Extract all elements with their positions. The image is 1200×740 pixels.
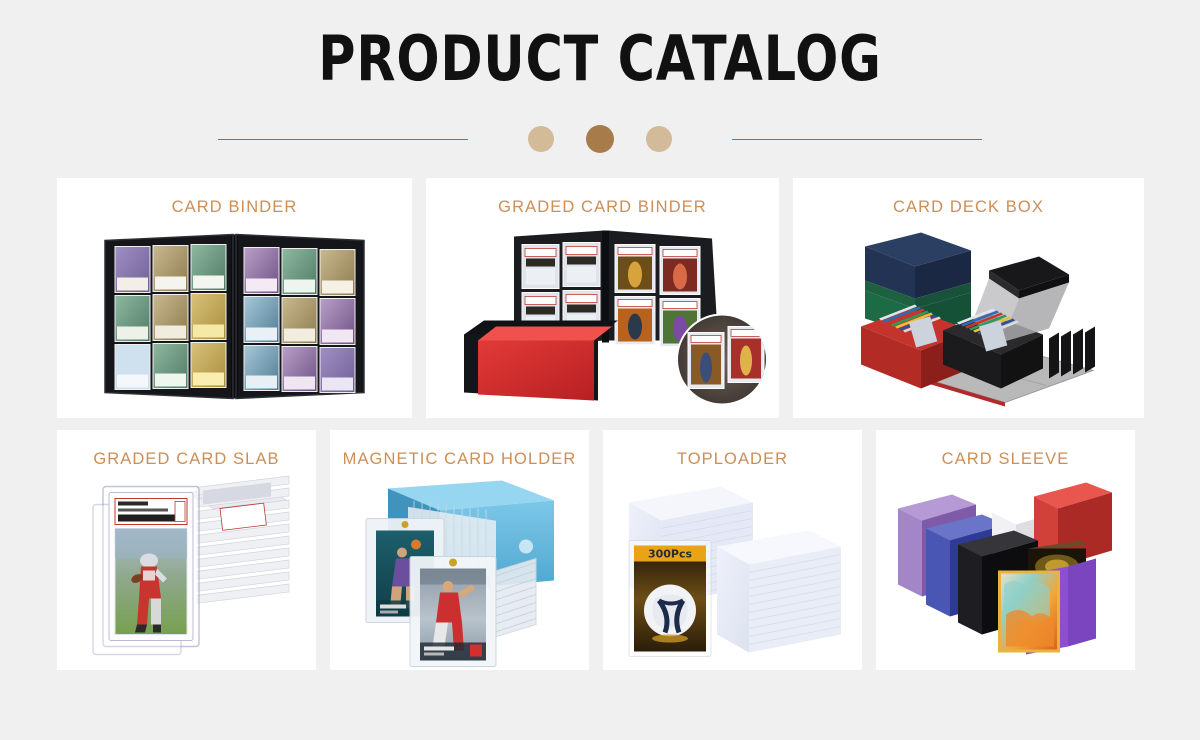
- decorative-divider: [0, 124, 1200, 154]
- svg-text:300Pcs: 300Pcs: [648, 548, 693, 561]
- page-header: PRODUCT CATALOG: [0, 0, 1200, 154]
- divider-line-right: [732, 139, 982, 140]
- product-card-magnetic-card-holder[interactable]: MAGNETIC CARD HOLDER: [330, 430, 589, 670]
- product-title: GRADED CARD BINDER: [498, 198, 707, 217]
- catalog-row: CARD BINDER: [57, 178, 1143, 418]
- product-image-graded-card-slab: [57, 469, 316, 670]
- product-title: CARD DECK BOX: [893, 198, 1044, 217]
- divider-dot-3: [646, 126, 672, 152]
- product-title: TOPLOADER: [677, 450, 788, 469]
- product-catalog-grid: CARD BINDER: [0, 178, 1200, 670]
- product-card-graded-card-binder[interactable]: GRADED CARD BINDER: [426, 178, 779, 418]
- product-image-magnetic-card-holder: [330, 469, 589, 670]
- product-image-card-deck-box: [793, 217, 1144, 418]
- divider-dot-1: [528, 126, 554, 152]
- product-card-card-binder[interactable]: CARD BINDER: [57, 178, 412, 418]
- product-title: CARD BINDER: [172, 198, 298, 217]
- divider-line-left: [218, 139, 468, 140]
- product-card-graded-card-slab[interactable]: GRADED CARD SLAB: [57, 430, 316, 670]
- catalog-row: GRADED CARD SLAB: [57, 430, 1143, 670]
- divider-dot-2: [586, 125, 614, 153]
- product-card-card-deck-box[interactable]: CARD DECK BOX: [793, 178, 1144, 418]
- product-image-card-sleeve: [876, 469, 1135, 670]
- product-title: CARD SLEEVE: [942, 450, 1070, 469]
- page-title: PRODUCT CATALOG: [108, 0, 1092, 90]
- product-image-toploader: 300Pcs: [603, 469, 862, 670]
- product-card-card-sleeve[interactable]: CARD SLEEVE: [876, 430, 1135, 670]
- product-image-card-binder: [57, 217, 412, 418]
- divider-dot-group: [528, 125, 672, 153]
- product-card-toploader[interactable]: TOPLOADER: [603, 430, 862, 670]
- product-title: MAGNETIC CARD HOLDER: [343, 450, 577, 469]
- product-image-graded-card-binder: [426, 217, 779, 418]
- product-title: GRADED CARD SLAB: [93, 450, 279, 469]
